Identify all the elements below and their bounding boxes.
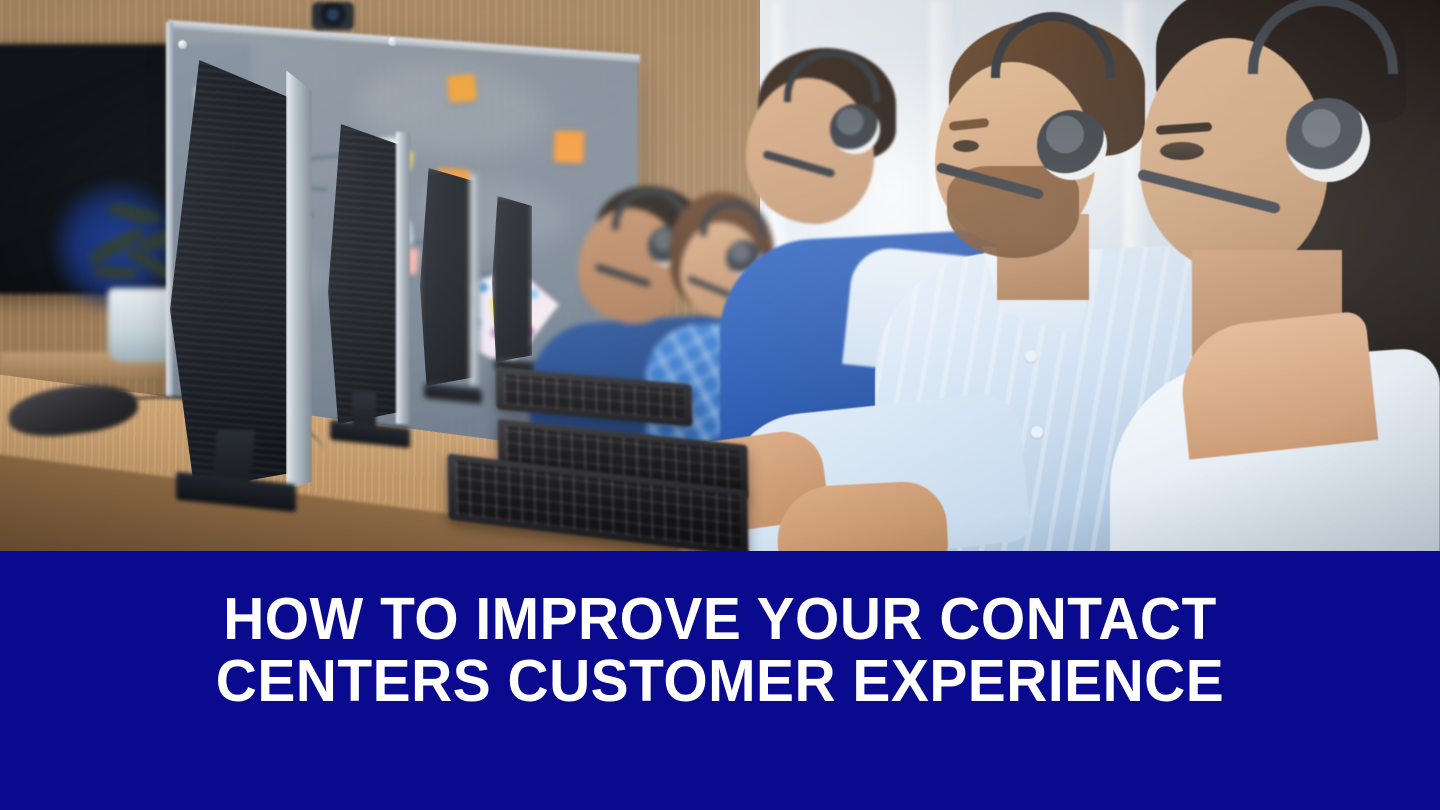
agent-eye (953, 140, 979, 152)
monitor (328, 124, 400, 424)
title-band: HOW TO IMPROVE YOUR CONTACT CENTERS CUST… (0, 551, 1440, 810)
title-line-2: CENTERS CUSTOMER EXPERIENCE (25, 650, 1415, 712)
sticky-note (553, 130, 584, 163)
shirt-button (1031, 426, 1043, 438)
monitor-bezel (470, 174, 480, 386)
whiteboard-mount-screw (388, 37, 397, 46)
headset-earcup-icon (1037, 110, 1107, 180)
page-title: HOW TO IMPROVE YOUR CONTACT CENTERS CUST… (25, 588, 1415, 712)
whiteboard-mount-screw (178, 40, 187, 49)
headset-earcup-icon (830, 104, 880, 154)
whiteboard-left-edge (166, 22, 173, 423)
webcam-icon (312, 2, 354, 30)
headset-earcup-icon (1286, 98, 1370, 182)
monitor (492, 196, 532, 362)
agent-eye (1160, 142, 1204, 160)
monitor-bezel (286, 70, 312, 490)
shirt-button (1025, 350, 1037, 362)
monitor-bezel (396, 132, 410, 424)
monitor (420, 168, 474, 386)
hero-photo (0, 0, 1440, 551)
title-line-1: HOW TO IMPROVE YOUR CONTACT (25, 588, 1415, 650)
article-header-banner: HOW TO IMPROVE YOUR CONTACT CENTERS CUST… (0, 0, 1440, 810)
sticky-note (447, 74, 477, 103)
